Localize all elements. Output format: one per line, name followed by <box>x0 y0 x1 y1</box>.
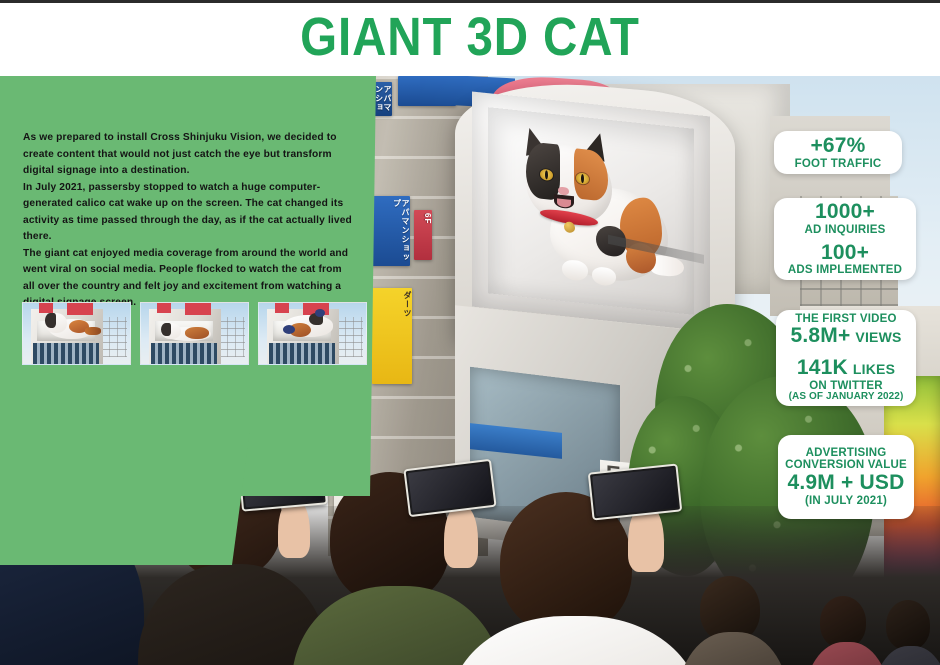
badge-value-views: 5.8M+ <box>790 325 850 348</box>
badge-label-advertising: ADVERTISING <box>806 447 887 459</box>
phone-screen <box>408 463 492 512</box>
body-paragraph-1: As we prepared to install Cross Shinjuku… <box>23 130 353 180</box>
thumbnail-red-accent-2 <box>275 303 289 313</box>
phone-screen <box>592 468 678 516</box>
thumbnail-red-accent-2 <box>39 303 53 313</box>
person-head <box>820 596 866 648</box>
cross-shinjuku-vision-screen <box>472 91 710 331</box>
badge-value-inquiries: 1000+ <box>815 201 875 224</box>
stat-badge-ad-inquiries: 1000+ AD INQUIRIES 100+ ADS IMPLEMENTED <box>774 198 916 280</box>
thumbnail-windows <box>33 343 99 365</box>
header-band: GIANT 3D CAT <box>0 0 940 76</box>
badge-value: +67% <box>810 135 865 158</box>
badge-label-period: (IN JULY 2021) <box>805 495 887 507</box>
giant-3d-cat <box>500 120 676 298</box>
green-panel-lower-extension <box>0 430 250 565</box>
badge-value-likes: 141K <box>797 357 848 380</box>
phone-4 <box>588 463 683 520</box>
cat-collar-bell <box>564 221 575 233</box>
blue-toy-2 <box>315 309 325 317</box>
badge-label-asof: (AS OF JANUARY 2022) <box>789 392 904 403</box>
badge-label: FOOT TRAFFIC <box>795 158 882 170</box>
thumbnail-2[interactable] <box>140 302 249 365</box>
thumbnail-red-accent <box>185 303 211 315</box>
thumbnail-scaffold <box>219 317 245 357</box>
badge-label-conversion: CONVERSION VALUE <box>785 459 907 471</box>
stat-badge-video-engagement: THE FIRST VIDEO 5.8M+ VIEWS 141K LIKES O… <box>776 310 916 406</box>
body-paragraph-2: In July 2021, passersby stopped to watch… <box>23 180 353 246</box>
cat-orange-patch <box>185 327 209 339</box>
badge-value-ads: 100+ <box>821 242 869 265</box>
signboard-red-floor: 6F <box>414 210 432 260</box>
stat-badge-foot-traffic: +67% FOOT TRAFFIC <box>774 131 902 174</box>
person-hand <box>278 500 310 558</box>
thumbnail-scaffold <box>337 317 363 357</box>
thumbnail-red-accent-2 <box>157 303 171 313</box>
signboard-darts-2: ダーツ <box>372 288 412 384</box>
thumbnail-red-accent <box>67 303 93 315</box>
signboard-apaman-2: アパマンショップ <box>370 196 410 266</box>
infographic-page: Y アパマンショップ 9F アコムミュージック アパマンショップ 6F ダーツ … <box>0 0 940 665</box>
person-hand <box>444 506 478 568</box>
badge-label-likes: LIKES <box>853 362 895 377</box>
badge-value-conversion: 4.9M + USD <box>788 472 905 495</box>
cat-head-marking <box>161 323 171 336</box>
badge-label-ads: ADS IMPLEMENTED <box>788 264 902 276</box>
thumbnail-windows <box>151 343 217 365</box>
cat-head-marking <box>45 313 56 328</box>
stat-badge-conversion-value: ADVERTISING CONVERSION VALUE 4.9M + USD … <box>778 435 914 519</box>
blue-toy-1 <box>283 325 295 334</box>
thumbnail-3[interactable] <box>258 302 367 365</box>
cat-tail <box>85 327 101 335</box>
thumbnail-windows <box>269 343 335 365</box>
person-head <box>886 600 930 650</box>
badge-label-inquiries: AD INQUIRIES <box>805 224 886 236</box>
badge-label-views: VIEWS <box>855 330 901 345</box>
thumbnail-strip <box>22 302 367 365</box>
body-copy: As we prepared to install Cross Shinjuku… <box>23 130 353 312</box>
thumbnail-scaffold <box>101 317 127 357</box>
thumbnail-1[interactable] <box>22 302 131 365</box>
top-rule <box>0 0 940 3</box>
page-title: GIANT 3D CAT <box>56 6 883 68</box>
